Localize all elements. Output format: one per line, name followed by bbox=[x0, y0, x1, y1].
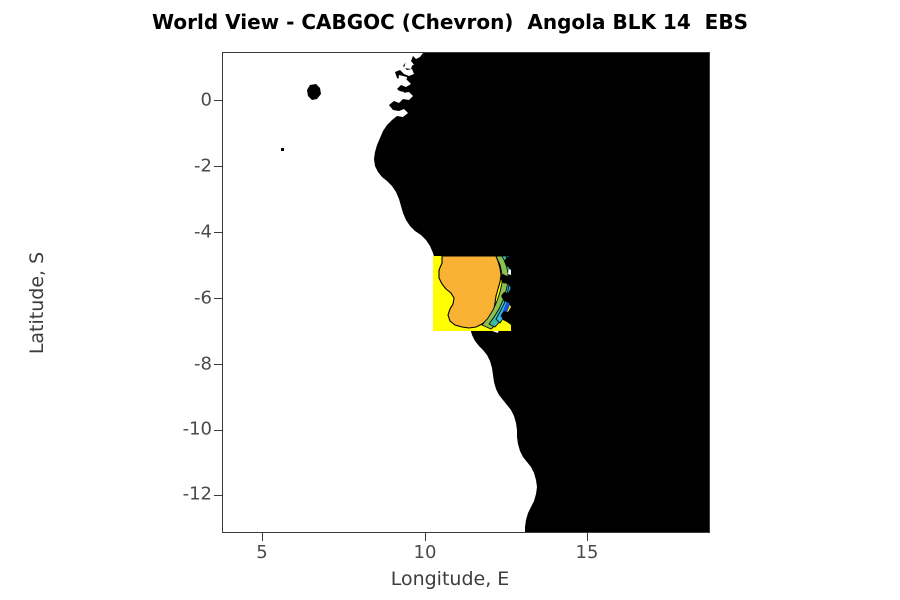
xtick-mark-1 bbox=[425, 533, 426, 541]
ytick-label-5: -10 bbox=[150, 419, 212, 440]
ytick-mark-5 bbox=[214, 430, 222, 431]
y-axis-label: Latitude, S bbox=[26, 173, 48, 433]
page-title: World View - CABGOC (Chevron) Angola BLK… bbox=[0, 10, 900, 34]
ytick-mark-1 bbox=[214, 166, 222, 167]
ytick-label-2: -4 bbox=[150, 222, 212, 243]
ytick-label-0: 0 bbox=[150, 90, 212, 111]
ytick-label-4: -8 bbox=[150, 354, 212, 375]
world-map-svg bbox=[223, 53, 710, 533]
xtick-label-0: 5 bbox=[256, 542, 267, 563]
ytick-mark-2 bbox=[214, 232, 222, 233]
ytick-mark-0 bbox=[214, 100, 222, 101]
ebs-contour-overlay[interactable] bbox=[433, 256, 511, 331]
ytick-mark-6 bbox=[214, 495, 222, 496]
ytick-label-6: -12 bbox=[150, 484, 212, 505]
map-plot-area[interactable] bbox=[222, 52, 710, 533]
xtick-mark-2 bbox=[587, 533, 588, 541]
ytick-mark-4 bbox=[214, 364, 222, 365]
island-annobon bbox=[281, 148, 284, 151]
x-axis-label: Longitude, E bbox=[0, 568, 900, 590]
xtick-mark-0 bbox=[262, 533, 263, 541]
ytick-label-1: -2 bbox=[150, 156, 212, 177]
xtick-label-1: 10 bbox=[414, 542, 437, 563]
ytick-label-3: -6 bbox=[150, 288, 212, 309]
xtick-label-2: 15 bbox=[576, 542, 599, 563]
ytick-mark-3 bbox=[214, 298, 222, 299]
figure-canvas: World View - CABGOC (Chevron) Angola BLK… bbox=[0, 0, 900, 600]
